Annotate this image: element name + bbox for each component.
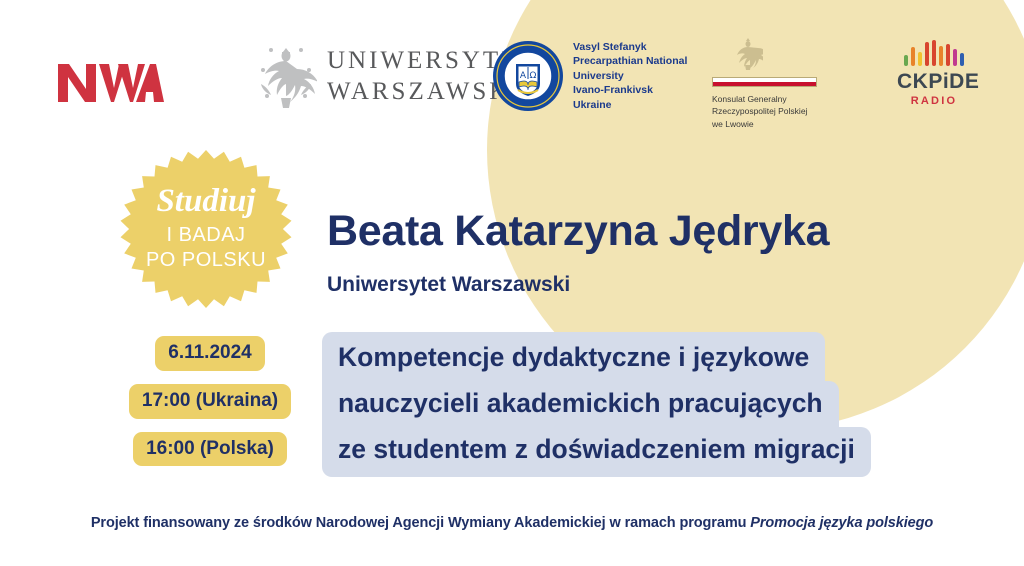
talk-title-block: Kompetencje dydaktyczne i językowe naucz…: [322, 332, 871, 477]
equalizer-bar-5: [932, 40, 937, 66]
schedule-pill-date: 6.11.2024: [155, 336, 264, 371]
equalizer-bar-4: [925, 42, 930, 66]
talk-title-line-2: nauczycieli akademickich pracujących: [322, 381, 839, 427]
logo-strip: UNIWERSYTET WARSZAWSKI Α Ω Vasyl Stefany…: [0, 0, 1024, 140]
uw-eagle-emblem-icon: [255, 40, 317, 112]
polish-flag-bar: [712, 77, 817, 87]
nawa-wordmark-icon: [56, 62, 164, 104]
logo-consulate: Konsulat Generalny Rzeczypospolitej Pols…: [712, 36, 827, 130]
equalizer-bar-6: [939, 46, 944, 66]
equalizer-bar-1: [904, 55, 909, 66]
pnu-wordmark: Vasyl Stefanyk Precarpathian National Un…: [573, 40, 687, 112]
footer-prefix: Projekt finansowany ze środków Narodowej…: [91, 515, 750, 531]
badge-text: Studiuj I BADAJ PO POLSKU: [120, 150, 292, 308]
flag-red-stripe: [713, 82, 816, 86]
schedule-pill-time-ukraine: 17:00 (Ukraina): [129, 384, 291, 419]
equalizer-bars-icon: [897, 40, 971, 66]
equalizer-bar-2: [911, 47, 916, 66]
polish-eagle-icon: [733, 36, 763, 70]
speaker-affiliation: Uniwersytet Warszawski: [327, 274, 570, 295]
studiuj-badge: Studiuj I BADAJ PO POLSKU: [120, 150, 292, 308]
ckpide-wordmark: CKPiDE: [897, 71, 971, 92]
equalizer-bar-3: [918, 52, 923, 66]
badge-line-2: I BADAJ: [166, 223, 245, 248]
equalizer-bar-9: [960, 53, 965, 66]
university-seal-icon: Α Ω: [492, 40, 564, 112]
talk-title-line-1: Kompetencje dydaktyczne i językowe: [322, 332, 825, 381]
equalizer-bar-7: [946, 44, 951, 66]
equalizer-bar-8: [953, 49, 958, 66]
svg-text:Α: Α: [520, 71, 527, 81]
badge-line-3: PO POLSKU: [146, 248, 266, 273]
svg-text:Ω: Ω: [530, 71, 537, 81]
badge-line-1: Studiuj: [156, 185, 255, 218]
speaker-name: Beata Katarzyna Jędryka: [327, 210, 829, 253]
schedule-pills: 6.11.2024 17:00 (Ukraina) 16:00 (Polska): [120, 336, 300, 479]
consulate-wordmark: Konsulat Generalny Rzeczypospolitej Pols…: [712, 93, 827, 130]
logo-precarpathian-university: Α Ω Vasyl Stefanyk Precarpathian Nationa…: [492, 40, 687, 112]
schedule-pill-time-poland: 16:00 (Polska): [133, 432, 287, 467]
footer-program-name: Promocja języka polskiego: [750, 515, 933, 531]
logo-ckpide-radio: CKPiDE RADIO: [897, 40, 971, 107]
webinar-poster: UNIWERSYTET WARSZAWSKI Α Ω Vasyl Stefany…: [0, 0, 1024, 566]
talk-title-line-3: ze studentem z doświadczeniem migracji: [322, 427, 871, 477]
ckpide-subtitle: RADIO: [897, 96, 971, 107]
funding-footer: Projekt finansowany ze środków Narodowej…: [0, 515, 1024, 531]
logo-nawa: [56, 62, 164, 109]
